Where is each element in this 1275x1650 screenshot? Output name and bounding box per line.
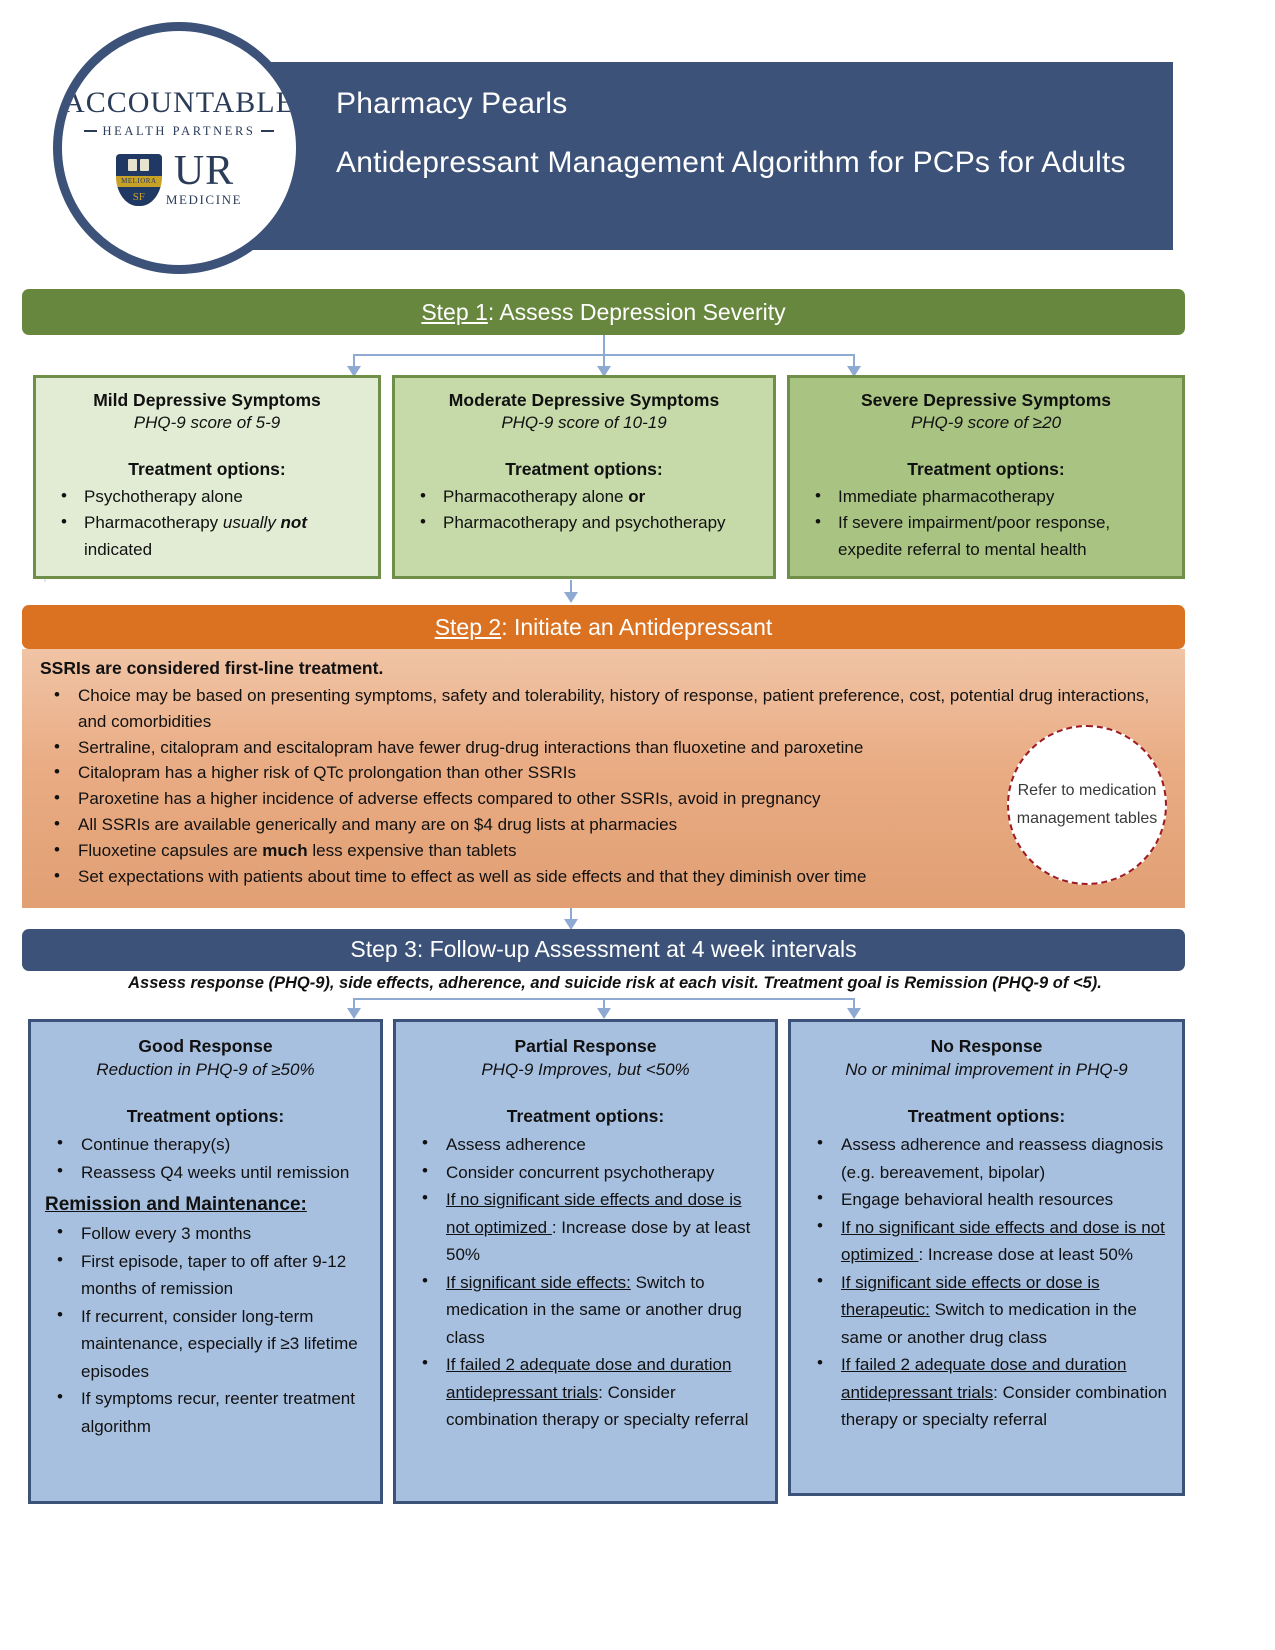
remission-maintenance-heading: Remission and Maintenance: — [39, 1194, 372, 1216]
list-item: Pharmacotherapy and psychotherapy — [403, 510, 765, 536]
list-item: Psychotherapy alone — [44, 484, 370, 510]
partial-subtitle: PHQ-9 Improves, but <50% — [404, 1060, 767, 1080]
step-1-label: Step 1 — [421, 299, 488, 326]
list-item: All SSRIs are available generically and … — [40, 812, 1171, 838]
book-icon-2 — [140, 159, 149, 171]
book-icon-1 — [128, 159, 137, 171]
good-bullets: Continue therapy(s)Reassess Q4 weeks unt… — [39, 1131, 372, 1186]
stray-mark: ’ — [44, 578, 46, 588]
good-title: Good Response — [39, 1036, 372, 1057]
list-item: Assess adherence and reassess diagnosis … — [799, 1131, 1174, 1186]
list-item: If failed 2 adequate dose and duration a… — [799, 1351, 1174, 1434]
mild-subtitle: PHQ-9 score of 5-9 — [44, 413, 370, 433]
rule-left — [84, 130, 97, 132]
list-item: If no significant side effects and dose … — [799, 1214, 1174, 1269]
logo-tagline-rule: HEALTH PARTNERS — [84, 124, 275, 139]
none-options-label: Treatment options: — [799, 1106, 1174, 1127]
good-options-label: Treatment options: — [39, 1106, 372, 1127]
severity-box-severe: Severe Depressive Symptoms PHQ-9 score o… — [787, 375, 1185, 579]
step-1-label-rest: : Assess Depression Severity — [488, 299, 786, 326]
severe-options-label: Treatment options: — [798, 459, 1174, 480]
none-title: No Response — [799, 1036, 1174, 1057]
rule-right — [261, 130, 274, 132]
severe-title: Severe Depressive Symptoms — [798, 390, 1174, 411]
step-2-bullets: Choice may be based on presenting sympto… — [40, 683, 1171, 890]
list-item: Fluoxetine capsules are much less expens… — [40, 838, 1171, 864]
remission-bullets: Follow every 3 monthsFirst episode, tape… — [39, 1220, 372, 1440]
step-3-label: Step 3: Follow-up Assessment at 4 week i… — [350, 936, 856, 963]
severe-bullets: Immediate pharmacotherapyIf severe impai… — [798, 484, 1174, 563]
logo: ACCOUNTABLE HEALTH PARTNERS MELIORA SF U… — [53, 22, 305, 274]
severe-subtitle: PHQ-9 score of ≥20 — [798, 413, 1174, 433]
step-2-body: SSRIs are considered first-line treatmen… — [22, 649, 1185, 908]
list-item: Continue therapy(s) — [39, 1131, 372, 1159]
list-item: Pharmacotherapy usually not indicated — [44, 510, 370, 563]
list-item: Pharmacotherapy alone or — [403, 484, 765, 510]
logo-wordmark: ACCOUNTABLE — [63, 88, 295, 118]
list-item: Citalopram has a higher risk of QTc prol… — [40, 760, 1171, 786]
mild-bullets: Psychotherapy alonePharmacotherapy usual… — [44, 484, 370, 563]
list-item: Assess adherence — [404, 1131, 767, 1159]
list-item: Immediate pharmacotherapy — [798, 484, 1174, 510]
moderate-title: Moderate Depressive Symptoms — [403, 390, 765, 411]
list-item: Follow every 3 months — [39, 1220, 372, 1248]
arrow-to-good-response — [347, 1008, 361, 1019]
connector-step1-stem — [603, 335, 605, 354]
step-2-label-rest: : Initiate an Antidepressant — [501, 614, 772, 641]
list-item: If significant side effects: Switch to m… — [404, 1269, 767, 1352]
ur-medicine-label: MEDICINE — [166, 192, 242, 208]
arrow-to-step2 — [564, 592, 578, 603]
arrow-to-partial-response — [597, 1008, 611, 1019]
list-item: Consider concurrent psychotherapy — [404, 1159, 767, 1187]
list-item: If failed 2 adequate dose and duration a… — [404, 1351, 767, 1434]
ur-initials: UR — [174, 153, 234, 191]
list-item: Reassess Q4 weeks until remission — [39, 1159, 372, 1187]
ur-text: UR MEDICINE — [166, 153, 242, 209]
none-bullets: Assess adherence and reassess diagnosis … — [799, 1131, 1174, 1434]
step-3-note: Assess response (PHQ-9), side effects, a… — [60, 974, 1170, 993]
partial-title: Partial Response — [404, 1036, 767, 1057]
list-item: If severe impairment/poor response, expe… — [798, 510, 1174, 563]
partial-options-label: Treatment options: — [404, 1106, 767, 1127]
list-item: If symptoms recur, reenter treatment alg… — [39, 1385, 372, 1440]
severity-box-mild: Mild Depressive Symptoms PHQ-9 score of … — [33, 375, 381, 579]
response-box-none: No Response No or minimal improvement in… — [788, 1019, 1185, 1496]
mild-options-label: Treatment options: — [44, 459, 370, 480]
partial-bullets: Assess adherenceConsider concurrent psyc… — [404, 1131, 767, 1434]
mild-title: Mild Depressive Symptoms — [44, 390, 370, 411]
good-subtitle: Reduction in PHQ-9 of ≥50% — [39, 1060, 372, 1080]
list-item: If recurrent, consider long-term mainten… — [39, 1303, 372, 1386]
shield-books — [116, 154, 162, 176]
algorithm-page: Pharmacy Pearls Antidepressant Managemen… — [0, 0, 1275, 1650]
list-item: Set expectations with patients about tim… — [40, 864, 1171, 890]
moderate-subtitle: PHQ-9 score of 10-19 — [403, 413, 765, 433]
step-2-header: Step 2: Initiate an Antidepressant — [22, 605, 1185, 649]
ur-medicine-logo: MELIORA SF UR MEDICINE — [116, 153, 242, 209]
step-2-label: Step 2 — [435, 614, 502, 641]
page-title: Pharmacy Pearls — [336, 84, 1143, 125]
refer-to-tables-callout: Refer to medication management tables — [1007, 725, 1167, 885]
moderate-bullets: Pharmacotherapy alone orPharmacotherapy … — [403, 484, 765, 537]
list-item: Engage behavioral health resources — [799, 1186, 1174, 1214]
list-item: Choice may be based on presenting sympto… — [40, 683, 1171, 735]
list-item: Paroxetine has a higher incidence of adv… — [40, 786, 1171, 812]
list-item: If significant side effects or dose is t… — [799, 1269, 1174, 1352]
logo-tagline: HEALTH PARTNERS — [103, 124, 256, 139]
shield-icon: MELIORA SF — [116, 154, 162, 206]
arrow-to-no-response — [847, 1008, 861, 1019]
shield-motto: MELIORA — [116, 176, 162, 187]
none-subtitle: No or minimal improvement in PHQ-9 — [799, 1060, 1174, 1080]
step-1-header: Step 1: Assess Depression Severity — [22, 289, 1185, 335]
response-box-partial: Partial Response PHQ-9 Improves, but <50… — [393, 1019, 778, 1504]
list-item: Sertraline, citalopram and escitalopram … — [40, 735, 1171, 761]
response-box-good: Good Response Reduction in PHQ-9 of ≥50%… — [28, 1019, 383, 1504]
list-item: If no significant side effects and dose … — [404, 1186, 767, 1269]
ssri-lead: SSRIs are considered first-line treatmen… — [40, 658, 1171, 679]
shield-monogram: SF — [116, 187, 162, 206]
severity-box-moderate: Moderate Depressive Symptoms PHQ-9 score… — [392, 375, 776, 579]
list-item: First episode, taper to off after 9-12 m… — [39, 1248, 372, 1303]
moderate-options-label: Treatment options: — [403, 459, 765, 480]
page-subtitle: Antidepressant Management Algorithm for … — [336, 143, 1143, 184]
step-3-header: Step 3: Follow-up Assessment at 4 week i… — [22, 929, 1185, 971]
